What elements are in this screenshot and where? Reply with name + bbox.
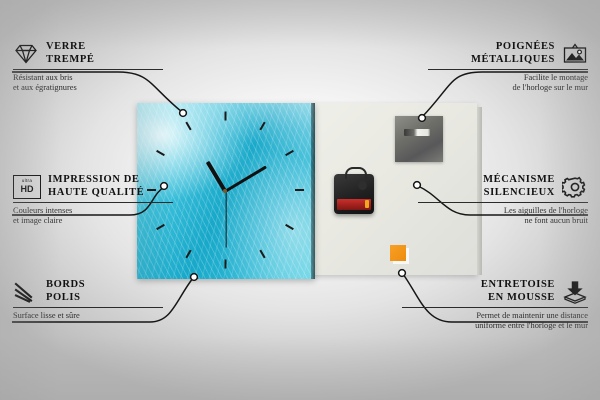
feature-title-line1: BORDS: [46, 279, 85, 292]
hands-pin: [223, 189, 227, 193]
ultra-hd-icon: ultra HD: [13, 175, 41, 199]
hour-marker: [224, 260, 226, 269]
feature-title-line2: EN MOUSSE: [481, 292, 555, 305]
feature-bords-polis: BORDS POLIS Surface lisse et sûre: [13, 279, 163, 321]
feature-subtitle-line2: de l'horloge sur le mur: [428, 83, 588, 93]
feature-divider: [13, 202, 173, 203]
feature-title-line1: POIGNÉES: [471, 41, 555, 54]
feature-subtitle-line1: Couleurs intenses: [13, 206, 173, 216]
second-hand: [225, 192, 226, 248]
ultra-hd-icon-large-text: HD: [21, 185, 34, 194]
feature-subtitle-line1: Les aiguilles de l'horloge: [418, 206, 588, 216]
feature-poignees-metalliques: POIGNÉES MÉTALLIQUES Facilite le montage…: [428, 41, 588, 93]
feature-subtitle-line2: ne font aucun bruit: [418, 216, 588, 226]
mechanism-dial: [358, 181, 367, 190]
hour-marker: [295, 189, 304, 191]
infographic-canvas: VERRE TREMPÉ Résistant aux bris et aux é…: [0, 0, 600, 400]
feature-divider: [13, 69, 163, 70]
feature-title-line1: VERRE: [46, 41, 95, 54]
feature-subtitle-line1: Facilite le montage: [428, 73, 588, 83]
clock-mechanism-box: [334, 174, 374, 214]
feature-subtitle-line2: et image claire: [13, 216, 173, 226]
hanging-loop: [345, 167, 367, 179]
feature-divider: [402, 307, 588, 308]
foam-spacer: [390, 245, 406, 261]
feature-title-line2: MÉTALLIQUES: [471, 54, 555, 67]
feature-title-line1: ENTRETOISE: [481, 279, 555, 292]
polished-edges-icon: [13, 280, 39, 304]
foam-spacer-icon: [562, 280, 588, 304]
feature-divider: [418, 202, 588, 203]
feature-divider: [13, 307, 163, 308]
metal-hanger-plate: [395, 116, 443, 162]
feature-title-line2: TREMPÉ: [46, 54, 95, 67]
feature-subtitle-line1: Permet de maintenir une distance: [402, 311, 588, 321]
diamond-icon: [13, 42, 39, 66]
feature-subtitle-line1: Résistant aux bris: [13, 73, 163, 83]
feature-title-line1: MÉCANISME: [483, 174, 555, 187]
feature-mecanisme-silencieux: MÉCANISME SILENCIEUX Les aiguilles de l'…: [418, 174, 588, 226]
feature-verre-trempe: VERRE TREMPÉ Résistant aux bris et aux é…: [13, 41, 163, 93]
feature-divider: [428, 69, 588, 70]
picture-hanger-icon: [562, 42, 588, 66]
battery: [337, 199, 371, 210]
feature-entretoise-mousse: ENTRETOISE EN MOUSSE Permet de maintenir…: [402, 279, 588, 331]
hanger-slot: [404, 129, 430, 136]
hour-marker: [224, 112, 226, 121]
feature-title-line1: IMPRESSION DE: [48, 174, 144, 187]
feature-title-line2: POLIS: [46, 292, 85, 305]
feature-subtitle-line2: uniforme entre l'horloge et le mur: [402, 321, 588, 331]
clock-right-edge: [311, 103, 315, 279]
feature-impression-hd: ultra HD IMPRESSION DE HAUTE QUALITÉ Cou…: [13, 174, 173, 226]
feature-subtitle-line2: et aux égratignures: [13, 83, 163, 93]
gear-icon: [562, 175, 588, 199]
feature-title-line2: HAUTE QUALITÉ: [48, 187, 144, 200]
feature-subtitle-line1: Surface lisse et sûre: [13, 311, 163, 321]
feature-title-line2: SILENCIEUX: [483, 187, 555, 200]
